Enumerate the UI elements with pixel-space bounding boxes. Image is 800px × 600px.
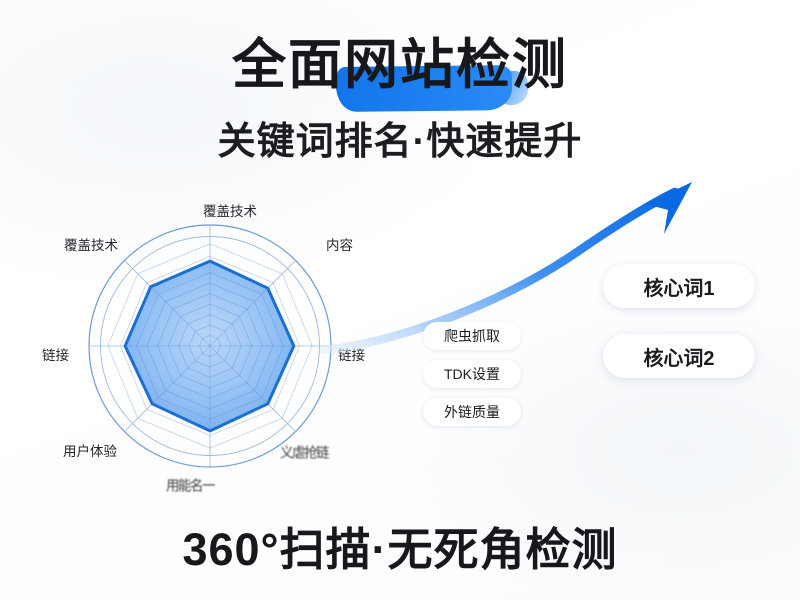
tag-pill-outlink-label: 外链质量 <box>444 402 500 422</box>
radar-axis-label-7: 覆盖技术 <box>64 234 118 254</box>
page-subtitle: 关键词排名·快速提升 <box>0 110 800 165</box>
radar-axis-label-4: 用能名一 <box>166 473 214 494</box>
tag-pill-crawl-label: 爬虫抓取 <box>444 326 500 346</box>
tag-pill-tdk[interactable]: TDK设置 <box>423 360 521 388</box>
title-part-1: 全面 <box>232 35 344 95</box>
radar-axis-label-6: 链接 <box>42 344 69 364</box>
tag-pill-outlink[interactable]: 外链质量 <box>423 398 521 426</box>
title-part-2: 检测 <box>456 35 568 95</box>
keyword-pill-1[interactable]: 核心词1 <box>603 264 755 308</box>
keyword-pill-2[interactable]: 核心词2 <box>603 334 755 378</box>
page-title: 全面网站检测 <box>232 36 568 94</box>
arrow-head <box>646 182 692 234</box>
tag-pill-crawl[interactable]: 爬虫抓取 <box>423 322 521 350</box>
radar-axis-label-0: 覆盖技术 <box>203 200 257 220</box>
radar-axis-label-2: 链接 <box>338 344 365 364</box>
radar-axis-label-5: 用户体验 <box>63 440 117 460</box>
title-highlight-text: 网站 <box>344 35 456 95</box>
poster-canvas: 全面网站检测 关键词排名·快速提升 覆盖技术内容链接义虐抢链用能名一用户体验链接… <box>0 0 800 600</box>
keyword-pill-1-label: 核心词1 <box>643 272 714 301</box>
radar-axis-label-3: 义虐抢链 <box>280 440 328 461</box>
radar-axis-label-1: 内容 <box>326 234 353 254</box>
radar-inner-rings <box>126 262 294 430</box>
tag-pill-tdk-label: TDK设置 <box>444 364 500 384</box>
headline-block: 全面网站检测 关键词排名·快速提升 <box>0 36 800 165</box>
radar-chart: 覆盖技术内容链接义虐抢链用能名一用户体验链接覆盖技术 <box>38 196 398 506</box>
footer-tagline: 360°扫描·无死角检测 <box>0 513 800 578</box>
keyword-pill-2-label: 核心词2 <box>643 342 714 371</box>
